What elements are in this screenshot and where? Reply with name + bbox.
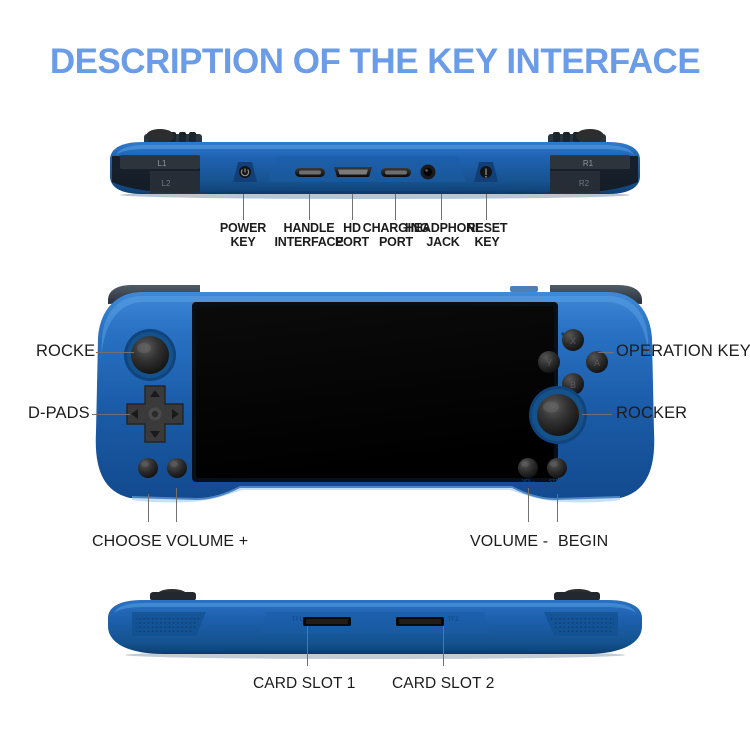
usb-c-charging-port-icon [381,168,411,177]
top-vent [510,286,538,292]
dpad-right-icon [172,409,179,419]
top-edge-view-artwork: L1 L2 R1 R2 [110,129,640,199]
dpad-left-icon [131,409,138,419]
volume-down-button: VOL- [518,458,538,485]
callout-choose: CHOOSE [92,533,162,550]
action-button-y: Y [538,351,560,373]
svg-text:SELECT: SELECT [138,479,159,485]
page-title: DESCRIPTION OF THE KEY INTERFACE [0,42,750,82]
status-led [561,332,564,335]
leader-choose [148,494,149,522]
leader-card-slot-1 [307,626,308,666]
device-illustrations: L1 L2 R1 R2 [0,0,750,750]
leader-charging-port [395,194,396,220]
bottom-edge-view-artwork: TF1 TF2 [108,589,642,659]
callout-begin: BEGIN [558,533,608,550]
svg-text:X: X [570,336,576,346]
shoulder-buttons-right [548,132,606,146]
leader-power-key [243,194,244,220]
action-button-b: B [562,373,584,395]
action-button-x: X [562,329,584,351]
svg-text:A: A [594,358,600,368]
right-analog-stick [529,386,587,444]
right-speaker-grille [544,612,618,636]
leader-volume-up [176,488,177,522]
callout-volume-up: VOLUME + [166,533,248,550]
front-view-artwork: SELECT VOL+ X Y A [96,285,654,502]
callout-reset-key-line1: RESET [461,222,513,236]
callout-operation-keys: OPERATION KEYS [616,343,750,361]
left-bumper [108,285,200,304]
leader-card-slot-2 [443,626,444,666]
svg-text:L1: L1 [158,159,167,168]
select-button: SELECT [138,458,159,485]
front-chassis [96,292,654,500]
callout-rocker: ROCKER [616,405,687,423]
leader-rocker [582,414,612,415]
leader-handle-interface [309,194,310,220]
leader-reset-key [486,194,487,220]
d-pad [127,386,183,442]
callout-card-slot-2: CARD SLOT 2 [392,676,494,693]
svg-text:TF2: TF2 [448,617,459,623]
left-grip-top: L1 L2 [112,155,200,193]
svg-text:TF1: TF1 [292,617,303,623]
svg-text:R2: R2 [579,179,590,188]
diagram-canvas: DESCRIPTION OF THE KEY INTERFACE [0,0,750,750]
leader-operation-keys [598,352,614,353]
callout-rocke: ROCKE [36,343,95,361]
card-slot-2: TF2 [396,617,459,626]
leader-rocke [96,352,134,353]
action-button-a: A [586,351,608,373]
svg-text:R1: R1 [583,159,594,168]
callout-d-pads: D-PADS [28,405,90,423]
top-edge-chassis [110,142,640,194]
right-grip-top: R1 R2 [550,155,638,193]
screen [196,306,554,478]
left-speaker-grille [132,612,206,636]
volume-up-button: VOL+ [167,458,187,485]
card-slot-1: TF1 [292,617,351,626]
svg-text:L2: L2 [162,179,171,188]
action-buttons: X Y A B [538,329,608,395]
left-analog-stick [124,329,176,381]
leader-headphone-jack [441,194,442,220]
svg-text:VOL+: VOL+ [170,479,183,485]
callout-reset-key-line2: KEY [461,236,513,250]
usb-c-handle-port-icon [295,168,325,177]
reset-button-icon [474,162,498,182]
dpad-down-icon [150,431,160,438]
leader-d-pads [92,414,130,415]
leader-volume-down [528,488,529,522]
svg-text:VOL-: VOL- [522,479,534,485]
svg-text:START: START [549,479,566,485]
headphone-jack-icon [421,165,436,180]
leader-begin [557,494,558,522]
hdmi-port-icon [334,167,372,177]
bottom-edge-chassis [108,600,642,654]
svg-text:Y: Y [546,358,552,368]
svg-text:B: B [570,380,576,390]
callout-reset-key: RESET KEY [461,222,513,249]
callout-volume-down: VOLUME - [470,533,548,550]
callout-card-slot-1: CARD SLOT 1 [253,676,355,693]
leader-hd-port [352,194,353,220]
power-button-icon [233,162,257,182]
screen-bezel [192,302,558,482]
dpad-up-icon [150,390,160,397]
start-button: START [547,458,567,485]
right-bumper [550,285,642,304]
shoulder-buttons-left [144,132,202,146]
